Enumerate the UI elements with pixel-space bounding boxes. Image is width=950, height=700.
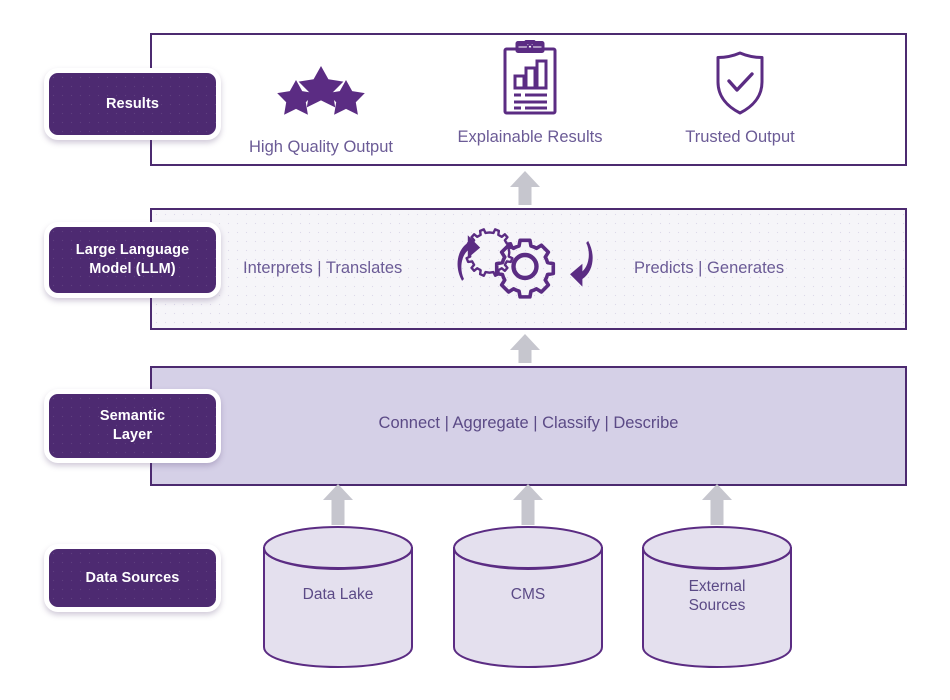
badge-llm-line2: Model (LLM) xyxy=(89,261,175,277)
arrow-external-to-semantic xyxy=(700,484,734,531)
badge-results[interactable]: Results xyxy=(44,68,221,140)
result-item-high-quality-output: High Quality Output xyxy=(236,60,406,157)
arrow-datalake-to-semantic xyxy=(321,484,355,531)
badge-large-language-model[interactable]: Large Language Model (LLM) xyxy=(44,222,221,298)
semantic-capabilities-text: Connect | Aggregate | Classify | Describ… xyxy=(150,414,907,433)
data-source-external-sources[interactable]: External Sources xyxy=(641,525,793,670)
result-label: High Quality Output xyxy=(236,138,406,157)
data-source-label: Data Lake xyxy=(262,585,414,604)
badge-data-sources[interactable]: Data Sources xyxy=(44,544,221,612)
data-source-label-line2: Sources xyxy=(689,597,746,614)
diagram-canvas: High Quality Output Explainable Results xyxy=(0,0,950,700)
three-stars-icon xyxy=(236,60,406,126)
badge-semantic-line2: Layer xyxy=(113,427,152,443)
badge-semantic-layer[interactable]: Semantic Layer xyxy=(44,389,221,463)
badge-llm-label: Large Language Model (LLM) xyxy=(76,241,189,278)
result-label: Trusted Output xyxy=(650,128,830,147)
data-source-cms[interactable]: CMS xyxy=(452,525,604,670)
data-source-label: CMS xyxy=(452,585,604,604)
llm-left-capabilities: Interprets | Translates xyxy=(243,259,402,278)
arrow-semantic-to-llm xyxy=(508,334,542,369)
badge-semantic-line1: Semantic xyxy=(100,408,165,424)
llm-right-capabilities: Predicts | Generates xyxy=(634,259,784,278)
result-item-explainable-results: Explainable Results xyxy=(440,50,620,147)
badge-semantic-label: Semantic Layer xyxy=(100,407,165,444)
badge-llm-line1: Large Language xyxy=(76,242,189,258)
gear-with-rotation-arrows-icon xyxy=(451,228,599,310)
shield-check-icon xyxy=(650,50,830,116)
data-source-label: External Sources xyxy=(641,577,793,616)
data-source-label-line1: External xyxy=(689,578,746,595)
result-label: Explainable Results xyxy=(440,128,620,147)
badge-data-sources-label: Data Sources xyxy=(86,569,180,588)
arrow-llm-to-results xyxy=(508,170,542,211)
data-source-data-lake[interactable]: Data Lake xyxy=(262,525,414,670)
result-item-trusted-output: Trusted Output xyxy=(650,50,830,147)
clipboard-chart-icon xyxy=(440,50,620,116)
arrow-cms-to-semantic xyxy=(511,484,545,531)
badge-results-label: Results xyxy=(106,95,159,114)
